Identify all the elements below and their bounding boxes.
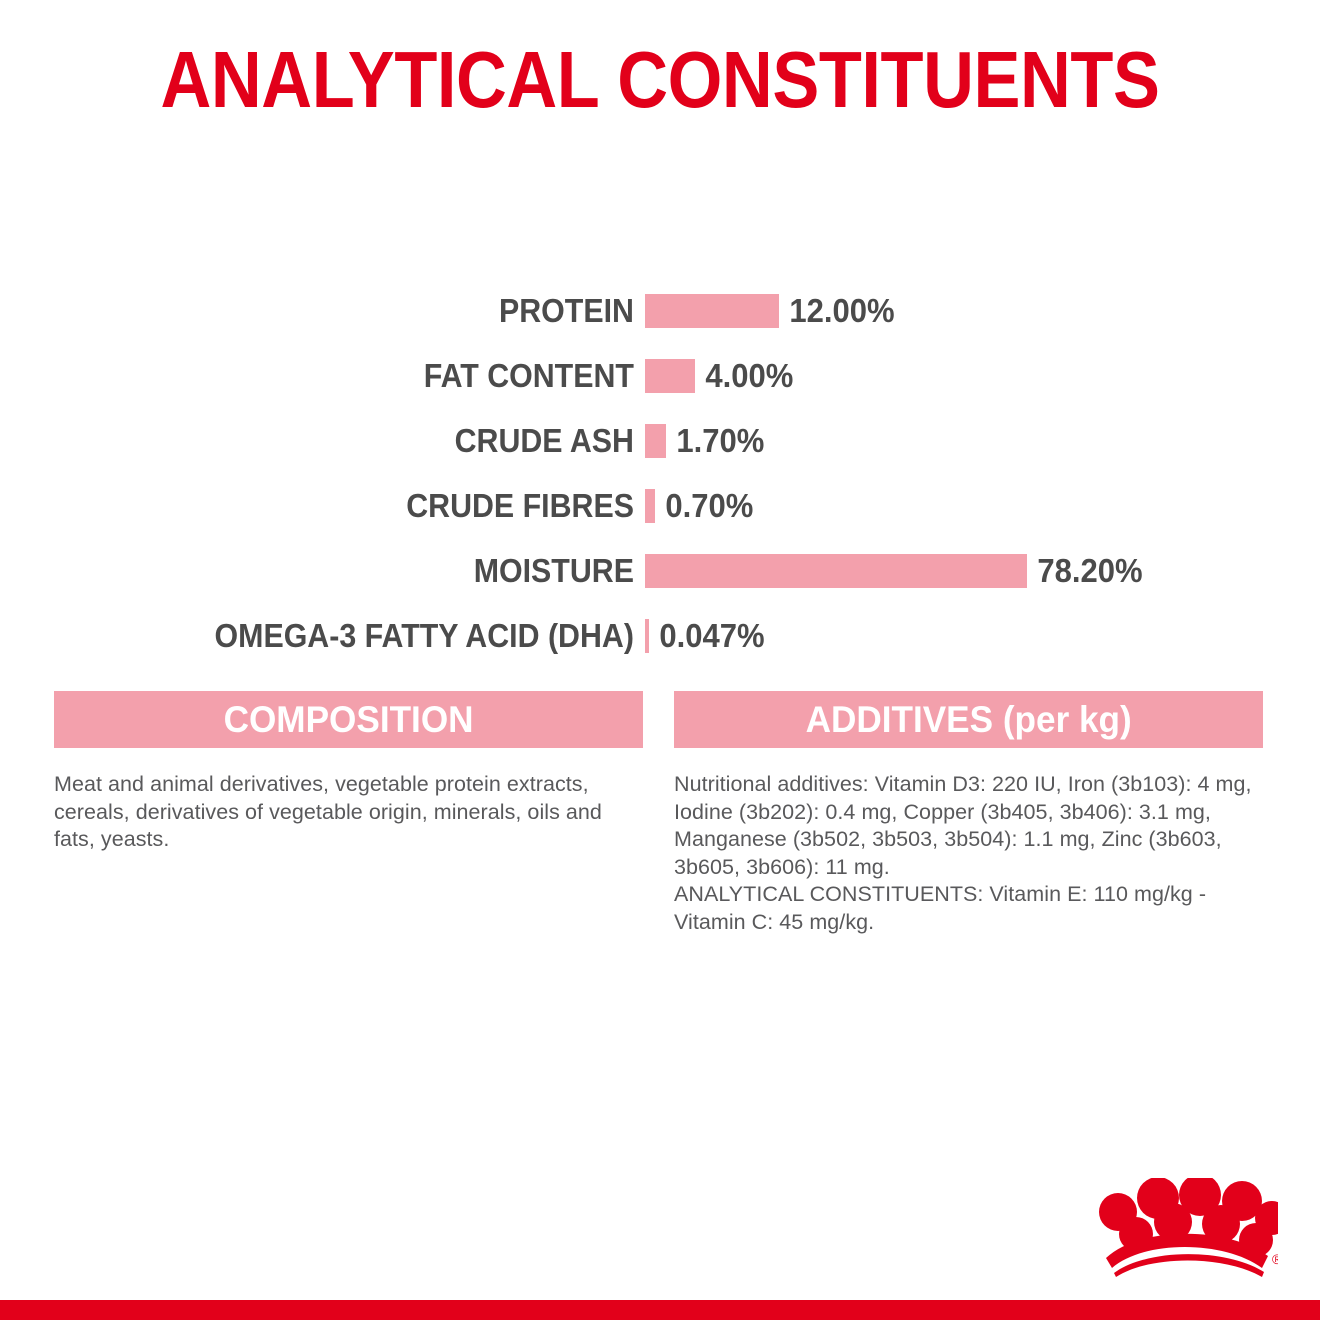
chart-bar-value: 12.00% <box>779 294 895 328</box>
chart-bar <box>645 554 1027 588</box>
chart-bar <box>645 489 655 523</box>
chart-row-label: MOISTURE <box>52 554 645 588</box>
chart-bar-group: 12.00% <box>645 294 1320 328</box>
chart-row-label: FAT CONTENT <box>52 359 645 393</box>
additives-body-text: Nutritional additives: Vitamin D3: 220 I… <box>674 748 1263 936</box>
chart-bar-group: 0.047% <box>645 619 1320 653</box>
additives-header-label: ADDITIVES (per kg) <box>805 700 1131 740</box>
chart-row-label: OMEGA-3 FATTY ACID (DHA) <box>52 619 645 653</box>
bottom-red-bar <box>0 1300 1320 1320</box>
chart-bar-value: 0.70% <box>655 489 753 523</box>
page-root: ANALYTICAL CONSTITUENTS PROTEIN12.00%FAT… <box>0 0 1320 1320</box>
chart-bar-group: 4.00% <box>645 359 1320 393</box>
chart-row-label: CRUDE ASH <box>52 424 645 458</box>
chart-bar <box>645 294 779 328</box>
chart-bar-group: 0.70% <box>645 489 1320 523</box>
chart-row: CRUDE FIBRES0.70% <box>0 473 1320 538</box>
chart-row: CRUDE ASH1.70% <box>0 408 1320 473</box>
chart-bar-value: 78.20% <box>1027 554 1143 588</box>
chart-bar-group: 78.20% <box>645 554 1320 588</box>
registered-mark: ® <box>1272 1251 1278 1267</box>
chart-bar-value: 0.047% <box>649 619 765 653</box>
chart-row: OMEGA-3 FATTY ACID (DHA)0.047% <box>0 603 1320 668</box>
info-panels: COMPOSITION Meat and animal derivatives,… <box>54 691 1266 936</box>
page-title: ANALYTICAL CONSTITUENTS <box>79 34 1241 126</box>
chart-row-label: CRUDE FIBRES <box>52 489 645 523</box>
chart-bar-group: 1.70% <box>645 424 1320 458</box>
composition-panel: COMPOSITION Meat and animal derivatives,… <box>54 691 643 936</box>
chart-row: PROTEIN12.00% <box>0 278 1320 343</box>
composition-body-text: Meat and animal derivatives, vegetable p… <box>54 748 643 854</box>
composition-header-label: COMPOSITION <box>224 700 474 740</box>
chart-row: FAT CONTENT4.00% <box>0 343 1320 408</box>
royal-canin-crown-icon: ® <box>1096 1178 1278 1278</box>
analytical-constituents-chart: PROTEIN12.00%FAT CONTENT4.00%CRUDE ASH1.… <box>0 278 1320 668</box>
chart-bar-value: 4.00% <box>695 359 793 393</box>
chart-bar <box>645 359 695 393</box>
chart-row-label: PROTEIN <box>52 294 645 328</box>
chart-bar <box>645 424 666 458</box>
composition-header: COMPOSITION <box>54 691 643 748</box>
additives-header: ADDITIVES (per kg) <box>674 691 1263 748</box>
chart-row: MOISTURE78.20% <box>0 538 1320 603</box>
additives-panel: ADDITIVES (per kg) Nutritional additives… <box>674 691 1263 936</box>
chart-bar-value: 1.70% <box>666 424 764 458</box>
